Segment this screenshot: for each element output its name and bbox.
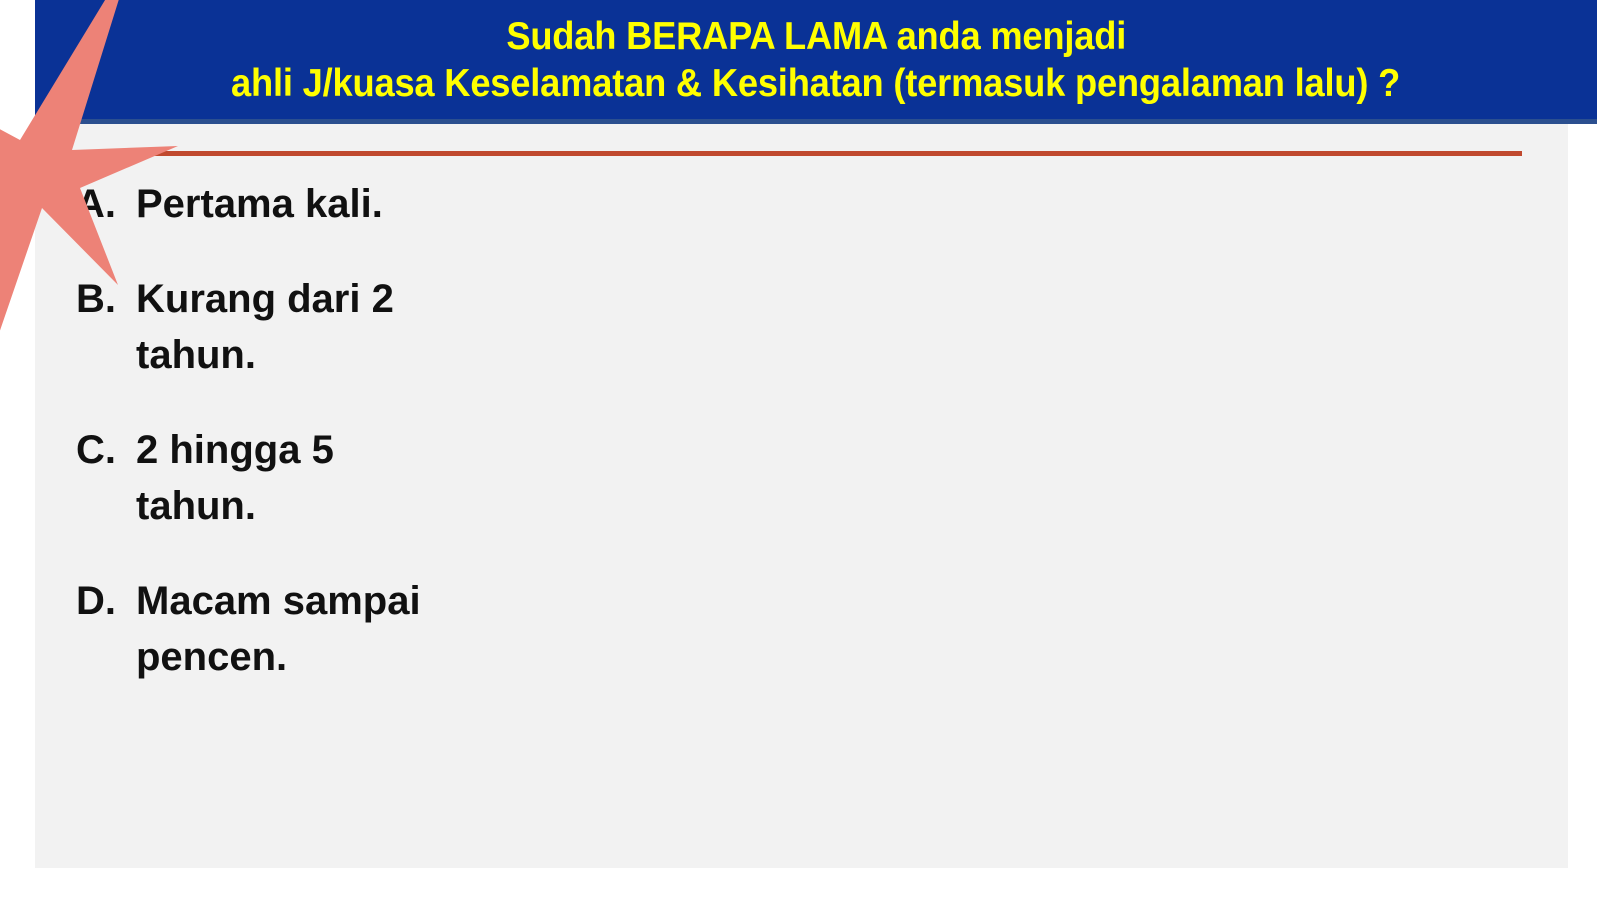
- option-text-b: Kurang dari 2 tahun.: [136, 271, 436, 383]
- presentation-slide: Sudah BERAPA LAMA anda menjadi ahli J/ku…: [0, 0, 1600, 900]
- list-item[interactable]: D. Macam sampai pencen.: [76, 573, 1076, 685]
- option-text-d: Macam sampai pencen.: [136, 573, 436, 685]
- option-letter-a: A.: [76, 176, 136, 232]
- option-letter-c: C.: [76, 422, 136, 478]
- title-banner: Sudah BERAPA LAMA anda menjadi ahli J/ku…: [35, 0, 1597, 124]
- options-list: A. Pertama kali. B. Kurang dari 2 tahun.…: [76, 176, 1076, 724]
- title-line-2: ahli J/kuasa Keselamatan & Kesihatan (te…: [231, 60, 1400, 107]
- list-item[interactable]: C. 2 hingga 5 tahun.: [76, 422, 1076, 534]
- option-text-c: 2 hingga 5 tahun.: [136, 422, 436, 534]
- option-letter-b: B.: [76, 271, 136, 327]
- title-line-1: Sudah BERAPA LAMA anda menjadi: [506, 13, 1126, 60]
- list-item[interactable]: A. Pertama kali.: [76, 176, 1076, 232]
- list-item[interactable]: B. Kurang dari 2 tahun.: [76, 271, 1076, 383]
- option-letter-d: D.: [76, 573, 136, 629]
- title-divider-rule: [138, 151, 1522, 156]
- option-text-a: Pertama kali.: [136, 176, 436, 232]
